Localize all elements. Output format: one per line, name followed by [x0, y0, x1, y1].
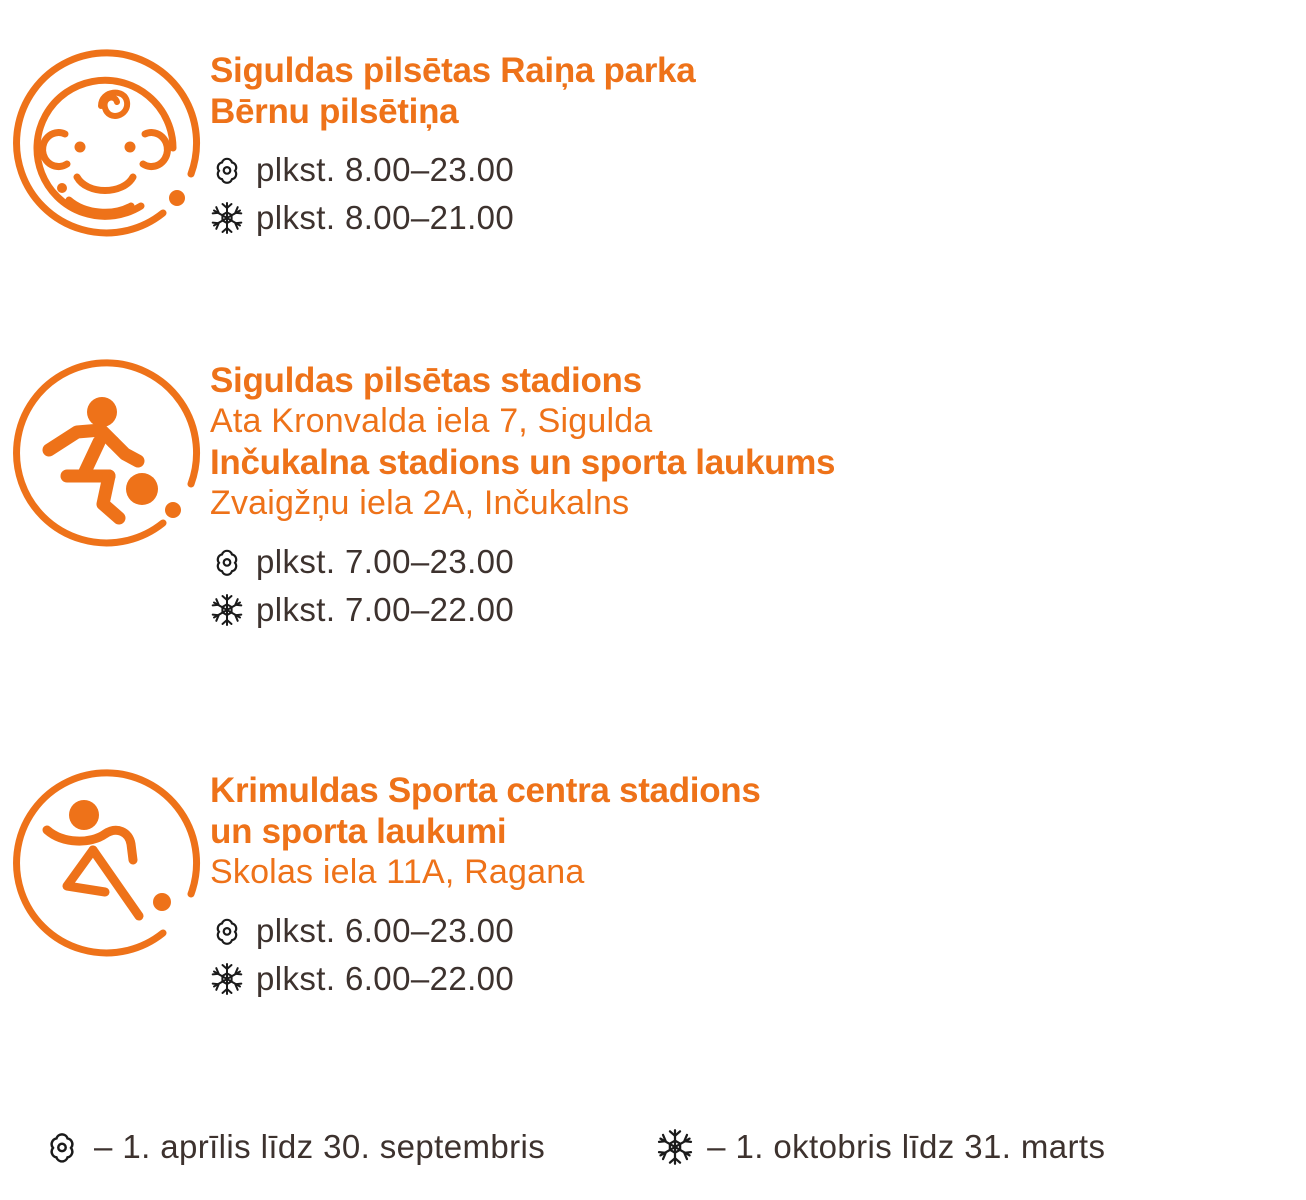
hours-row-summer: plkst. 7.00–23.00: [210, 538, 835, 586]
venue-title-line: Siguldas pilsētas Raiņa parka: [210, 50, 695, 91]
hours-block: plkst. 6.00–23.00: [210, 907, 761, 1003]
hours-text: plkst. 8.00–21.00: [256, 199, 514, 237]
venue-content: Krimuldas Sporta centra stadions un spor…: [210, 768, 761, 1003]
hours-row-summer: plkst. 6.00–23.00: [210, 907, 761, 955]
legend-text-summer: – 1. aprīlis līdz 30. septembris: [94, 1128, 545, 1166]
baby-face-icon: [0, 48, 210, 248]
hours-text: plkst. 8.00–23.00: [256, 151, 514, 189]
hours-text: plkst. 7.00–22.00: [256, 591, 514, 629]
snowflake-icon: [655, 1128, 695, 1166]
running-person-icon: [0, 768, 210, 968]
hours-text: plkst. 6.00–22.00: [256, 960, 514, 998]
legend: – 1. aprīlis līdz 30. septembris – 1. ok…: [0, 1112, 1306, 1182]
flower-icon: [210, 154, 244, 186]
legend-text-winter: – 1. oktobris līdz 31. marts: [707, 1128, 1105, 1166]
venue-title-line: un sporta laukumi: [210, 811, 761, 852]
legend-item-summer: – 1. aprīlis līdz 30. septembris: [42, 1128, 545, 1166]
hours-text: plkst. 6.00–23.00: [256, 912, 514, 950]
venue-content: Siguldas pilsētas stadions Ata Kronvalda…: [210, 358, 835, 634]
venue-content: Siguldas pilsētas Raiņa parka Bērnu pils…: [210, 48, 695, 242]
snowflake-icon: [210, 201, 244, 235]
legend-item-winter: – 1. oktobris līdz 31. marts: [655, 1128, 1105, 1166]
snowflake-icon: [210, 593, 244, 627]
venue-address-line: Zvaigžņu iela 2A, Inčukalns: [210, 483, 835, 524]
hours-row-winter: plkst. 8.00–21.00: [210, 194, 695, 242]
venue-block: Siguldas pilsētas Raiņa parka Bērnu pils…: [0, 48, 695, 248]
venue-address-line: Ata Kronvalda iela 7, Sigulda: [210, 401, 835, 442]
hours-row-summer: plkst. 8.00–23.00: [210, 146, 695, 194]
hours-block: plkst. 7.00–23.00: [210, 538, 835, 634]
hours-text: plkst. 7.00–23.00: [256, 543, 514, 581]
venue-block: Siguldas pilsētas stadions Ata Kronvalda…: [0, 358, 835, 634]
venue-block: Krimuldas Sporta centra stadions un spor…: [0, 768, 761, 1003]
flower-icon: [42, 1129, 82, 1165]
poster-opening-hours: Siguldas pilsētas Raiņa parka Bērnu pils…: [0, 0, 1306, 1200]
venue-title-line: Inčukalna stadions un sporta laukums: [210, 442, 835, 483]
venue-title-line: Siguldas pilsētas stadions: [210, 360, 835, 401]
venue-title-line: Krimuldas Sporta centra stadions: [210, 770, 761, 811]
flower-icon: [210, 546, 244, 578]
hours-row-winter: plkst. 6.00–22.00: [210, 955, 761, 1003]
football-player-icon: [0, 358, 210, 558]
hours-row-winter: plkst. 7.00–22.00: [210, 586, 835, 634]
flower-icon: [210, 915, 244, 947]
hours-block: plkst. 8.00–23.00: [210, 146, 695, 242]
snowflake-icon: [210, 962, 244, 996]
venue-title-line: Bērnu pilsētiņa: [210, 91, 695, 132]
venue-address-line: Skolas iela 11A, Ragana: [210, 852, 761, 893]
